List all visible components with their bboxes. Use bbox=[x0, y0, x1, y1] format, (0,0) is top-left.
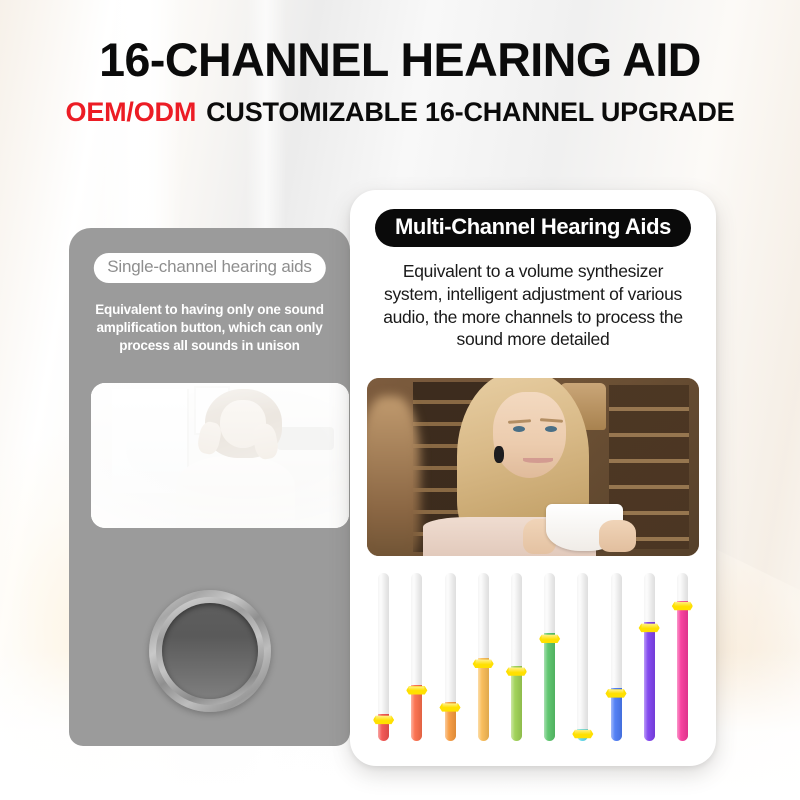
channel-slider-9[interactable] bbox=[644, 573, 655, 741]
slider-handle[interactable] bbox=[373, 714, 394, 725]
slider-handle[interactable] bbox=[473, 658, 494, 669]
slider-handle[interactable] bbox=[506, 666, 527, 677]
single-channel-pill-label: Single-channel hearing aids bbox=[93, 253, 325, 283]
slider-handle[interactable] bbox=[539, 633, 560, 644]
banner-headline: 16-CHANNEL HEARING AID OEM/ODMCUSTOMIZAB… bbox=[0, 36, 800, 126]
slider-track bbox=[577, 573, 588, 741]
photo-vignette-overlay bbox=[91, 383, 349, 528]
subtitle-oem-odm: OEM/ODM bbox=[66, 97, 197, 127]
channel-slider-10[interactable] bbox=[677, 573, 688, 741]
woman-with-headache-photo bbox=[91, 383, 349, 528]
single-channel-description: Equivalent to having only one sound ampl… bbox=[85, 301, 334, 355]
subtitle-customizable: CUSTOMIZABLE 16-CHANNEL UPGRADE bbox=[206, 97, 734, 127]
slider-handle[interactable] bbox=[406, 685, 427, 696]
hearing-aid-icon bbox=[494, 446, 505, 464]
multi-channel-card: Multi-Channel Hearing Aids Equivalent to… bbox=[350, 190, 716, 766]
woman-with-hearing-aid-photo bbox=[367, 378, 699, 556]
multi-channel-description: Equivalent to a volume synthesizer syste… bbox=[372, 260, 694, 351]
photo-foreground-blur bbox=[367, 396, 420, 556]
slider-handle[interactable] bbox=[572, 729, 593, 740]
slider-handle[interactable] bbox=[672, 601, 693, 612]
channel-slider-6[interactable] bbox=[544, 573, 555, 741]
slider-fill bbox=[478, 658, 489, 741]
slider-fill bbox=[511, 666, 522, 741]
page-title: 16-CHANNEL HEARING AID bbox=[4, 36, 796, 83]
slider-fill bbox=[544, 633, 555, 741]
banner-subtitle: OEM/ODMCUSTOMIZABLE 16-CHANNEL UPGRADE bbox=[0, 99, 800, 126]
photo-person-face bbox=[493, 392, 566, 477]
slider-handle[interactable] bbox=[639, 622, 660, 633]
channel-slider-4[interactable] bbox=[478, 573, 489, 741]
channel-slider-5[interactable] bbox=[511, 573, 522, 741]
slider-fill bbox=[677, 601, 688, 741]
channel-slider-panel bbox=[367, 573, 699, 741]
channel-slider-1[interactable] bbox=[378, 573, 389, 741]
channel-slider-2[interactable] bbox=[411, 573, 422, 741]
multi-channel-pill-label: Multi-Channel Hearing Aids bbox=[375, 209, 691, 247]
slider-fill bbox=[644, 622, 655, 741]
slider-handle[interactable] bbox=[606, 688, 627, 699]
channel-slider-8[interactable] bbox=[611, 573, 622, 741]
photo-person-eye-right bbox=[545, 426, 557, 432]
single-channel-card: Single-channel hearing aids Equivalent t… bbox=[69, 228, 350, 746]
slider-handle[interactable] bbox=[440, 702, 461, 713]
channel-slider-7[interactable] bbox=[577, 573, 588, 741]
photo-person-hand-right bbox=[599, 520, 636, 552]
single-volume-knob[interactable] bbox=[149, 590, 271, 712]
channel-slider-3[interactable] bbox=[445, 573, 456, 741]
